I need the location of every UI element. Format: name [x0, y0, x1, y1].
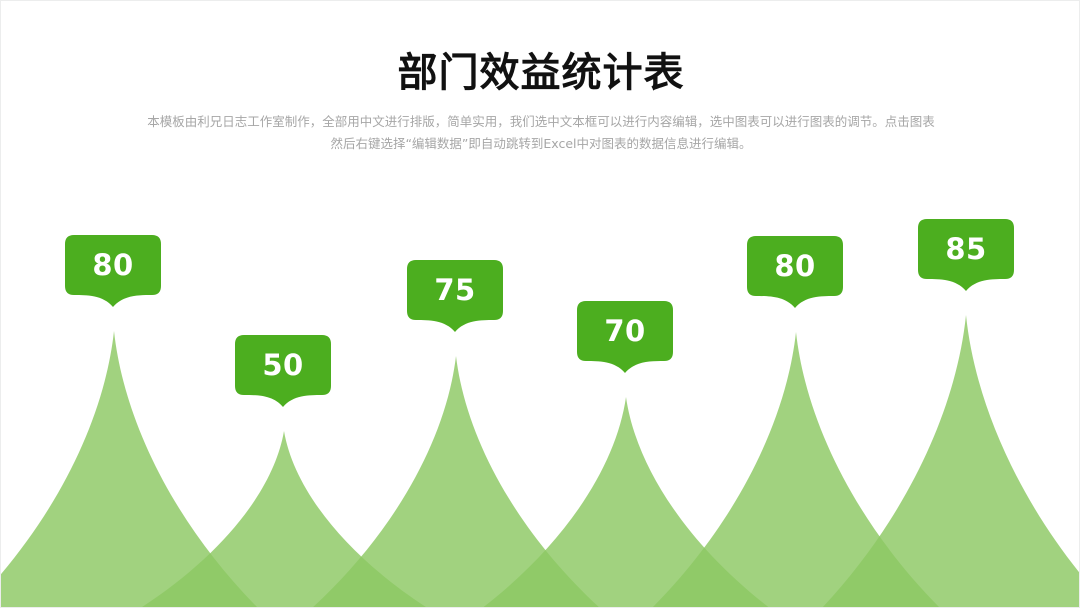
- page-title: 部门效益统计表: [1, 1, 1080, 97]
- peak-shape: [821, 315, 1080, 608]
- data-label-callout[interactable]: 70: [577, 301, 673, 373]
- data-label-value: 75: [407, 260, 503, 320]
- slide-canvas: 805075708085 部门效益统计表 本模板由利兄日志工作室制作，全部用中文…: [0, 0, 1080, 608]
- data-label-value: 70: [577, 301, 673, 361]
- data-label-callout[interactable]: 75: [407, 260, 503, 332]
- slide-header: 部门效益统计表 本模板由利兄日志工作室制作，全部用中文进行排版，简单实用，我们选…: [1, 1, 1080, 155]
- data-label-callout[interactable]: 80: [65, 235, 161, 307]
- data-label-value: 85: [918, 219, 1014, 279]
- data-label-callout[interactable]: 85: [918, 219, 1014, 291]
- subtitle-text: 本模板由利兄日志工作室制作，全部用中文进行排版，简单实用，我们选中文本框可以进行…: [146, 97, 936, 155]
- data-label-value: 50: [235, 335, 331, 395]
- data-label-value: 80: [65, 235, 161, 295]
- data-label-callout[interactable]: 80: [747, 236, 843, 308]
- data-label-value: 80: [747, 236, 843, 296]
- data-label-callout[interactable]: 50: [235, 335, 331, 407]
